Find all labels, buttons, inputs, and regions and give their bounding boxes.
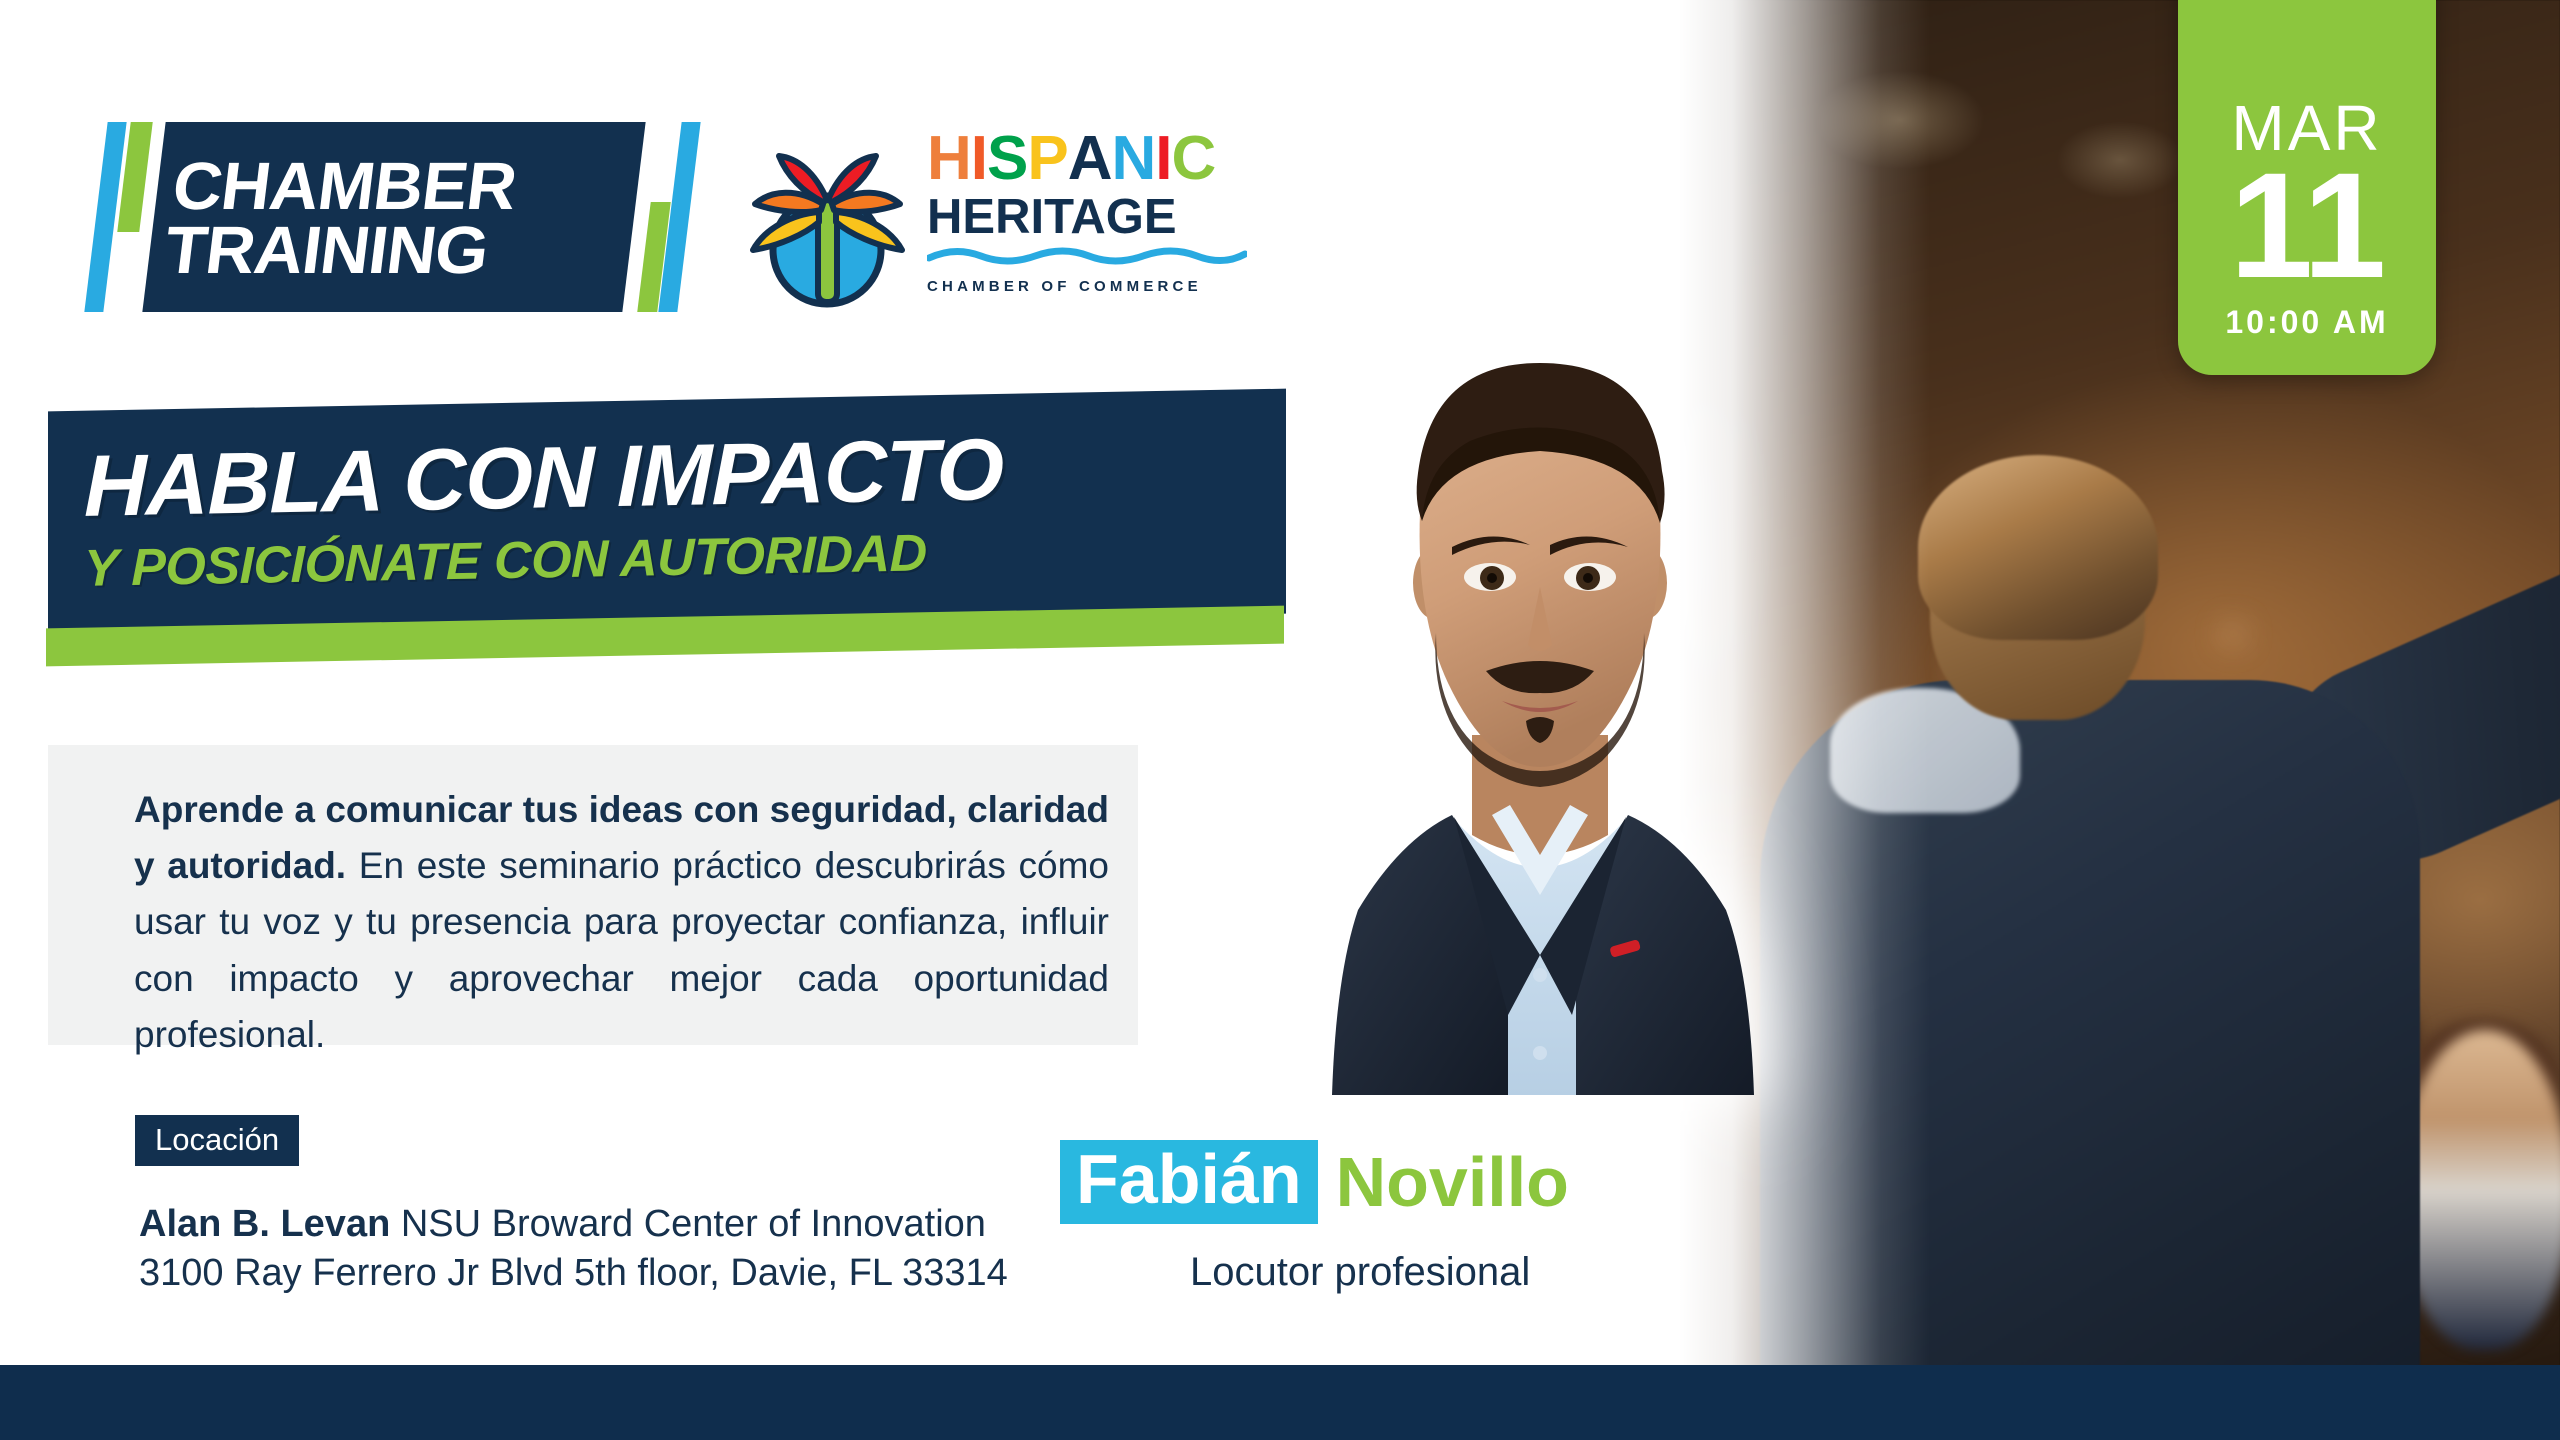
date-badge: MAR 11 10:00 AM — [2178, 0, 2436, 375]
hispanic-word: HISPANIC — [927, 130, 1247, 189]
speaker-first-name: Fabián — [1060, 1140, 1318, 1224]
hispanic-letter-4: A — [1068, 130, 1112, 189]
hispanic-heritage-chamber-logo: HISPANIC HERITAGE CHAMBER OF COMMERCE — [745, 130, 1245, 320]
location-venue-bold: Alan B. Levan — [139, 1203, 390, 1245]
wave-divider-icon — [927, 244, 1247, 271]
speaker-portrait-cutout — [1240, 315, 1840, 1095]
chamber-training-logo: CHAMBER TRAINING — [96, 122, 696, 312]
hispanic-letter-6: I — [1155, 130, 1171, 189]
chamber-of-commerce-tagline: CHAMBER OF COMMERCE — [927, 278, 1247, 295]
speaker-hair — [1918, 455, 2158, 640]
main-title: HABLA CON IMPACTO — [84, 421, 1264, 531]
location-address: 3100 Ray Ferrero Jr Blvd 5th floor, Davi… — [139, 1249, 1008, 1298]
speaker-last-name: Novillo — [1336, 1147, 1569, 1217]
hispanic-letter-3: P — [1027, 130, 1067, 189]
date-time: 10:00 AM — [2225, 304, 2388, 341]
audience-person — [2400, 1030, 2560, 1350]
location-details: Alan B. Levan NSU Broward Center of Inno… — [139, 1200, 1008, 1297]
chamber-training-line1: CHAMBER — [169, 155, 656, 219]
location-venue-rest: NSU Broward Center of Innovation — [390, 1203, 986, 1245]
hispanic-letter-0: H — [927, 130, 971, 189]
hispanic-letter-2: S — [987, 130, 1027, 189]
location-badge: Locación — [135, 1115, 299, 1166]
hispanic-letter-5: N — [1112, 130, 1156, 189]
hispanic-letter-7: C — [1172, 130, 1216, 189]
chamber-training-wordmark: CHAMBER TRAINING — [164, 134, 655, 304]
description-text: Aprende a comunicar tus ideas con seguri… — [134, 782, 1109, 1063]
event-flyer: MAR 11 10:00 AM CHAMBER TRAINING — [0, 0, 2560, 1440]
hispanic-heritage-wordmark: HISPANIC HERITAGE CHAMBER OF COMMERCE — [927, 130, 1247, 295]
chamber-training-line2: TRAINING — [161, 219, 648, 283]
speaker-name-row: Fabián Novillo — [1060, 1140, 1569, 1224]
heritage-word: HERITAGE — [927, 193, 1247, 242]
location-venue: Alan B. Levan NSU Broward Center of Inno… — [139, 1200, 1008, 1249]
main-title-text-group: HABLA CON IMPACTO Y POSICIÓNATE CON AUTO… — [84, 421, 1264, 596]
date-day: 11 — [2230, 156, 2385, 294]
hispanic-letter-1: I — [971, 130, 987, 189]
speaker-role: Locutor profesional — [1190, 1250, 1530, 1295]
footer-bar — [0, 1365, 2560, 1440]
palm-tree-globe-icon — [745, 142, 910, 312]
